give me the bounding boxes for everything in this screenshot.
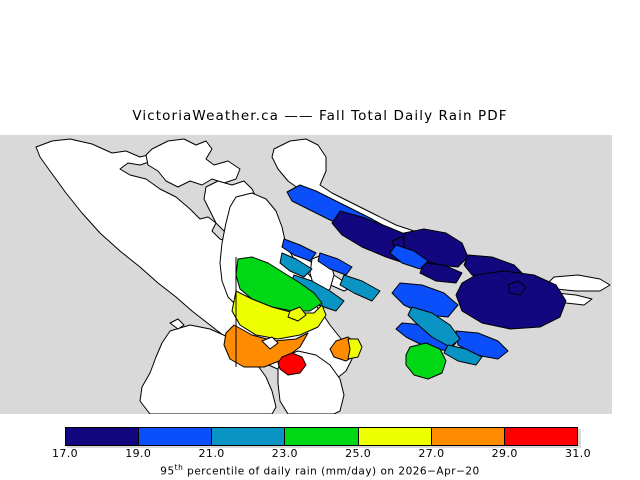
colorbar-tick-labels: 17.0 19.0 21.0 23.0 25.0 27.0 29.0 31.0 [0, 447, 640, 463]
colorbar-segment-4[interactable] [284, 428, 357, 445]
colorbar-segment-5[interactable] [358, 428, 431, 445]
colorbar-segment-2[interactable] [138, 428, 211, 445]
colorbar-segment-6[interactable] [431, 428, 504, 445]
colorbar-tick-1: 19.0 [125, 447, 151, 460]
colorbar-segment-1[interactable] [66, 428, 138, 445]
colorbar-tick-7: 31.0 [565, 447, 591, 460]
colorbar[interactable] [65, 427, 578, 446]
colorbar-segment-7[interactable] [504, 428, 577, 445]
caption-prefix: 95 [160, 466, 174, 478]
weather-map[interactable] [0, 135, 612, 414]
page-title: VictoriaWeather.ca —— Fall Total Daily R… [0, 108, 640, 124]
colorbar-tick-4: 25.0 [345, 447, 371, 460]
caption-rest: percentile of daily rain (mm/day) on 202… [183, 466, 479, 478]
colorbar-tick-0: 17.0 [52, 447, 78, 460]
colorbar-tick-3: 23.0 [272, 447, 298, 460]
colorbar-tick-2: 21.0 [199, 447, 225, 460]
colorbar-segment-3[interactable] [211, 428, 284, 445]
colorbar-tick-6: 29.0 [492, 447, 518, 460]
colorbar-tick-5: 27.0 [418, 447, 444, 460]
colorbar-caption: 95th percentile of daily rain (mm/day) o… [0, 463, 640, 478]
map-panel[interactable] [0, 135, 612, 414]
legend: 17.0 19.0 21.0 23.0 25.0 27.0 29.0 31.0 … [0, 424, 640, 480]
